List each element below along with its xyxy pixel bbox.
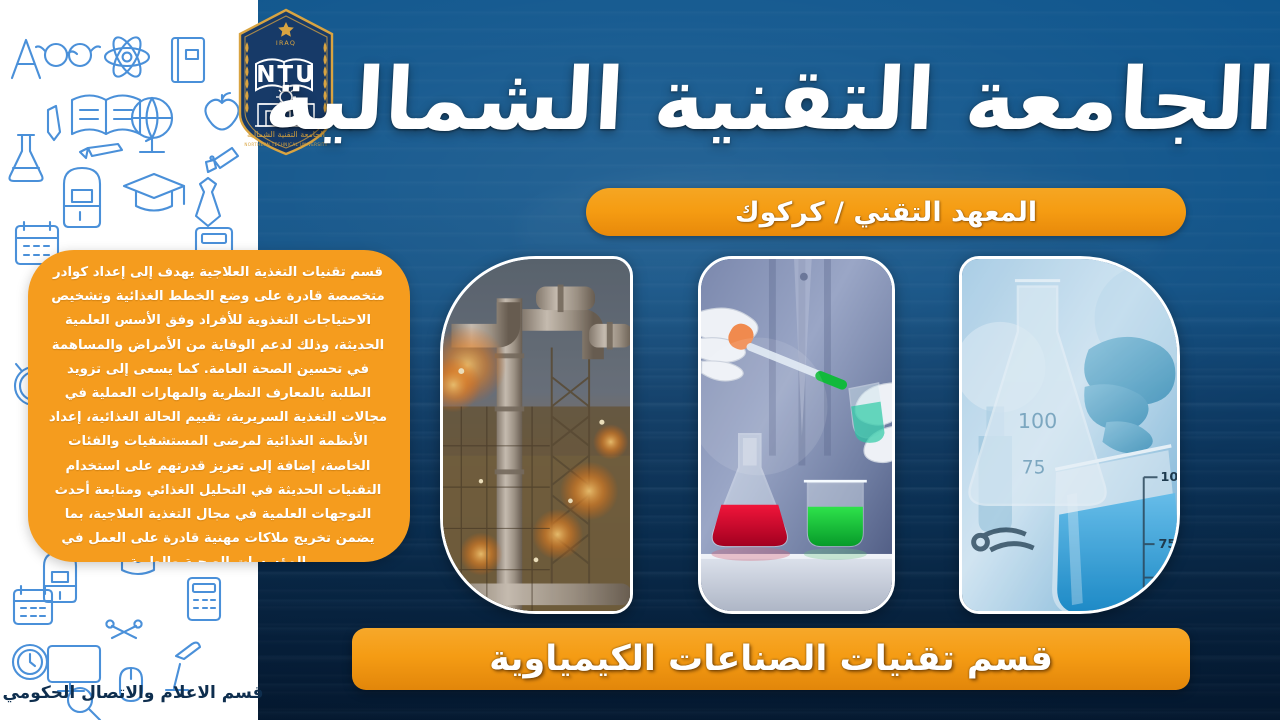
atom-icon (105, 33, 149, 80)
globe-icon (132, 98, 172, 152)
industrial-refinery-photo (440, 256, 633, 614)
beaker (804, 481, 867, 546)
poster-canvas: IRAQ NTU الجامعة التقنية الشمالية (0, 0, 1280, 720)
department-banner: قسم تقنيات الصناعات الكيمياوية (352, 628, 1190, 690)
department-banner-label: قسم تقنيات الصناعات الكيمياوية (489, 639, 1053, 679)
lab-glassware-photo: 100 75 (959, 256, 1180, 614)
media-department-credit: قسم الاعلام والاتصال الحكومي (8, 678, 258, 708)
department-description-text: قسم تقنيات التغذية العلاجية يهدف إلى إعد… (44, 261, 392, 562)
institute-bar-label: المعهد التقني / كركوك (735, 197, 1037, 228)
graduation-cap-icon (124, 174, 184, 211)
scissors-icon-3 (106, 620, 141, 638)
department-description-box: قسم تقنيات التغذية العلاجية يهدف إلى إعد… (28, 250, 410, 562)
logo-country-text: IRAQ (276, 39, 296, 47)
institute-bar: المعهد التقني / كركوك (586, 188, 1186, 236)
university-title: الجامعة التقنية الشمالية (395, 14, 1144, 186)
backpack-icon (64, 168, 100, 227)
glasses-icon (36, 44, 100, 66)
calculator-icon-2 (188, 578, 220, 620)
flask-icon (10, 135, 43, 181)
book-icon (172, 38, 204, 82)
pencil-icon (80, 144, 122, 158)
open-book-icon (72, 96, 140, 135)
clock-icon-2 (13, 645, 47, 679)
letter-a-icon (12, 40, 40, 78)
beaker-graduation-50: 50 (1158, 571, 1176, 586)
media-department-credit-label: قسم الاعلام والاتصال الحكومي (2, 683, 263, 703)
calendar-icon-2 (14, 586, 52, 624)
tie-icon (196, 178, 220, 226)
pen-icon (48, 106, 60, 140)
photo-strip: 100 75 (440, 256, 1180, 614)
laboratory-pipette-photo (698, 256, 895, 614)
